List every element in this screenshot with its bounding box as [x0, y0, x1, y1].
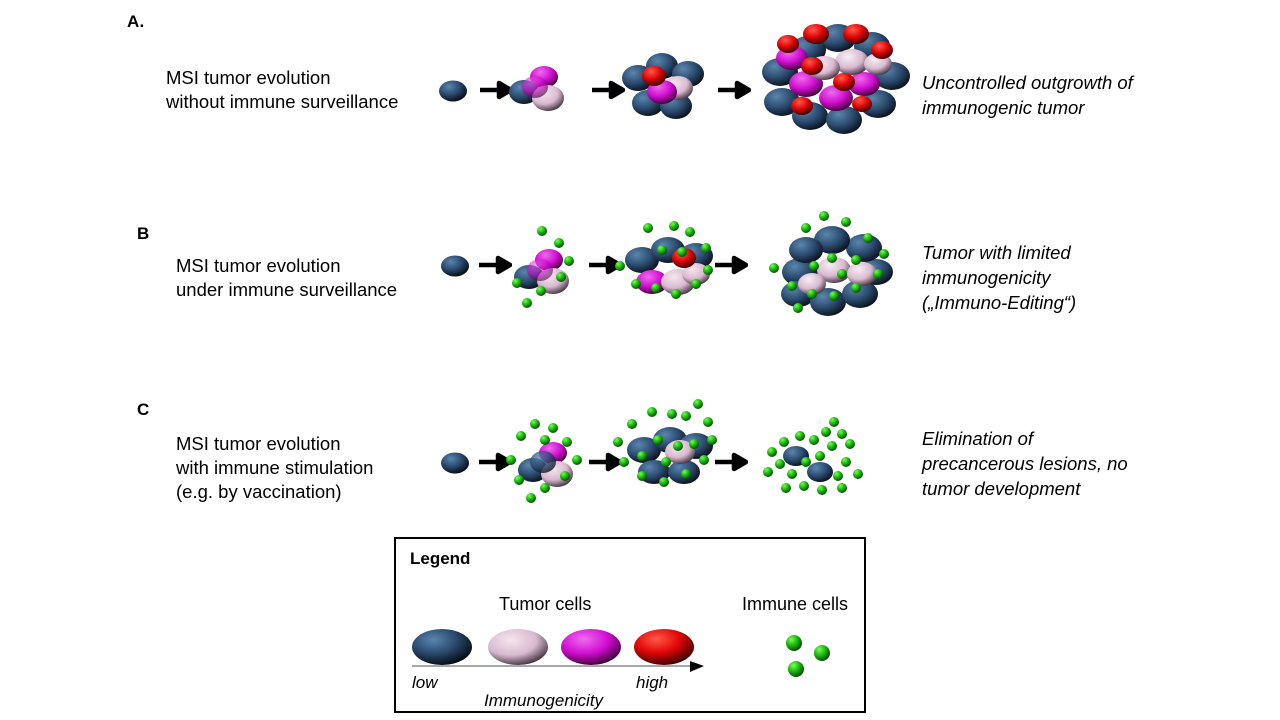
panel-b-stage-4-edited-tumor [762, 212, 906, 324]
panel-c-outcome: Elimination of precancerous lesions, no … [922, 426, 1128, 501]
panel-c-description: MSI tumor evolution with immune stimulat… [176, 432, 373, 504]
panel-letter-a: A. [127, 12, 144, 32]
panel-a-description: MSI tumor evolution without immune surve… [166, 66, 398, 114]
panel-b-stage-3-cluster-with-immune-cells [612, 222, 720, 310]
panel-a-stage-4-large-tumor [752, 20, 916, 140]
legend-immune-cells-heading: Immune cells [742, 594, 848, 615]
legend-box: Legend Tumor cells Immune cells low high… [394, 537, 866, 713]
panel-a-stage-1-cell [438, 78, 468, 104]
legend-immune-cells-swatch [780, 629, 850, 684]
axis-label-low: low [412, 673, 438, 693]
panel-a-arrow-3 [717, 80, 751, 102]
panel-c-arrow-3 [714, 452, 748, 474]
legend-title: Legend [410, 549, 470, 569]
panel-b-description: MSI tumor evolution under immune surveil… [176, 254, 397, 302]
axis-label-immunogenicity: Immunogenicity [484, 691, 603, 711]
axis-label-high: high [636, 673, 668, 693]
panel-a-stage-2-cluster [508, 62, 574, 118]
panel-a-stage-3-cluster [618, 48, 710, 130]
panel-c-stage-4-eliminated-tumor [758, 418, 874, 500]
panel-b-stage-2-cluster-with-immune-cells [505, 225, 585, 309]
panel-c-stage-1-cell [440, 450, 470, 476]
panel-b-outcome: Tumor with limited immunogenicity („Immu… [922, 240, 1076, 315]
panel-letter-c: C [137, 400, 149, 420]
legend-tumor-cells-heading: Tumor cells [499, 594, 591, 615]
panel-b-stage-1-cell [440, 253, 470, 279]
panel-c-stage-2-cluster-with-immune-cells [505, 418, 589, 504]
panel-letter-b: B [137, 224, 149, 244]
panel-c-stage-3-cluster-heavily-infiltrated [612, 400, 724, 504]
panel-b-arrow-3 [714, 255, 748, 277]
panel-a-outcome: Uncontrolled outgrowth of immunogenic tu… [922, 70, 1133, 120]
